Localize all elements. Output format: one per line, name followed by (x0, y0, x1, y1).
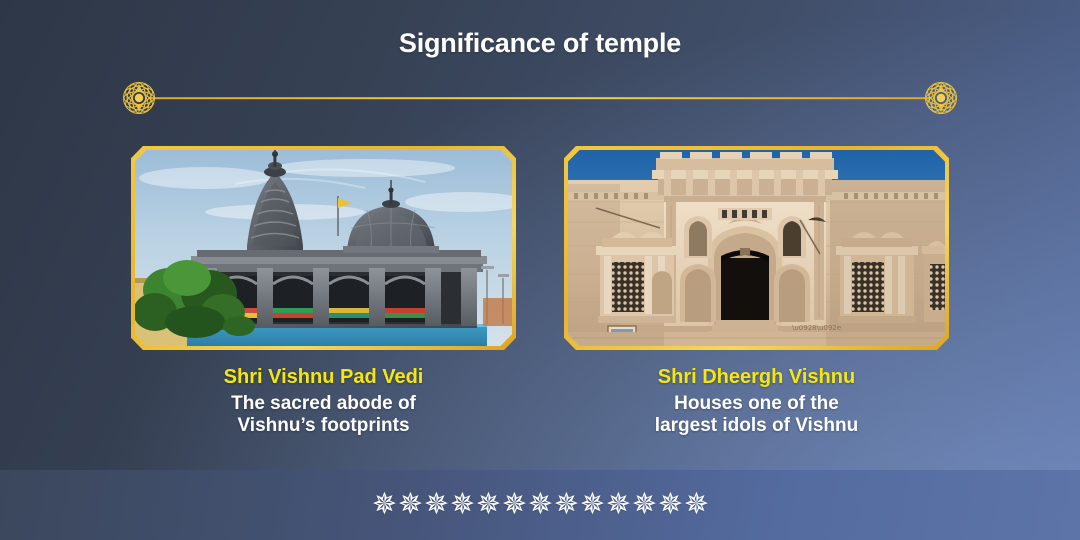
decorative-divider (120, 79, 960, 117)
footer-star-icon: ✵ (579, 490, 605, 520)
svg-text:\u0928\u092e: \u0928\u092e (792, 324, 841, 332)
divider-line (148, 97, 932, 99)
card-title: Shri Vishnu Pad Vedi (131, 366, 516, 389)
image-frame: \u0928\u092e (564, 146, 949, 350)
card-description: The sacred abode of Vishnu’s footprints (131, 393, 516, 437)
image-container: \u0928\u092e (568, 150, 945, 346)
footer-star-icon: ✵ (527, 490, 553, 520)
footer-star-icon: ✵ (371, 490, 397, 520)
footer-star-icon: ✵ (657, 490, 683, 520)
image-container (135, 150, 512, 346)
footer-star-icon: ✵ (501, 490, 527, 520)
card-description-line1: The sacred abode of (131, 393, 516, 415)
footer-star-icon: ✵ (475, 490, 501, 520)
card-description: Houses one of the largest idols of Vishn… (564, 393, 949, 437)
card-description-line1: Houses one of the (564, 393, 949, 415)
card-description-line2: Vishnu’s footprints (131, 415, 516, 437)
photo-sandstone-facade: \u0928\u092e (568, 150, 945, 346)
card-description-line2: largest idols of Vishnu (564, 415, 949, 437)
card-caption: Shri Dheergh Vishnu Houses one of the la… (564, 366, 949, 437)
image-frame (131, 146, 516, 350)
page-title: Significance of temple (0, 28, 1080, 59)
footer-star-icon: ✵ (683, 490, 709, 520)
footer-star-icon: ✵ (605, 490, 631, 520)
card-title: Shri Dheergh Vishnu (564, 366, 949, 389)
rosette-medallion-icon (922, 79, 960, 117)
footer-star-ornament-row: ✵✵✵✵✵✵✵✵✵✵✵✵✵ (371, 490, 709, 520)
slide-canvas: Significance of temple (0, 0, 1080, 540)
footer-star-icon: ✵ (553, 490, 579, 520)
card-shri-vishnu-pad-vedi[interactable]: Shri Vishnu Pad Vedi The sacred abode of… (131, 146, 516, 437)
photo-stone-temple (135, 150, 512, 346)
card-caption: Shri Vishnu Pad Vedi The sacred abode of… (131, 366, 516, 437)
rosette-medallion-icon (120, 79, 158, 117)
card-row: Shri Vishnu Pad Vedi The sacred abode of… (0, 146, 1080, 437)
footer-star-icon: ✵ (631, 490, 657, 520)
footer-star-icon: ✵ (423, 490, 449, 520)
footer-star-icon: ✵ (449, 490, 475, 520)
footer-star-icon: ✵ (397, 490, 423, 520)
footer-band: ✵✵✵✵✵✵✵✵✵✵✵✵✵ (0, 470, 1080, 540)
card-shri-dheergh-vishnu[interactable]: \u0928\u092e Shri Dheergh Vishnu Houses … (564, 146, 949, 437)
